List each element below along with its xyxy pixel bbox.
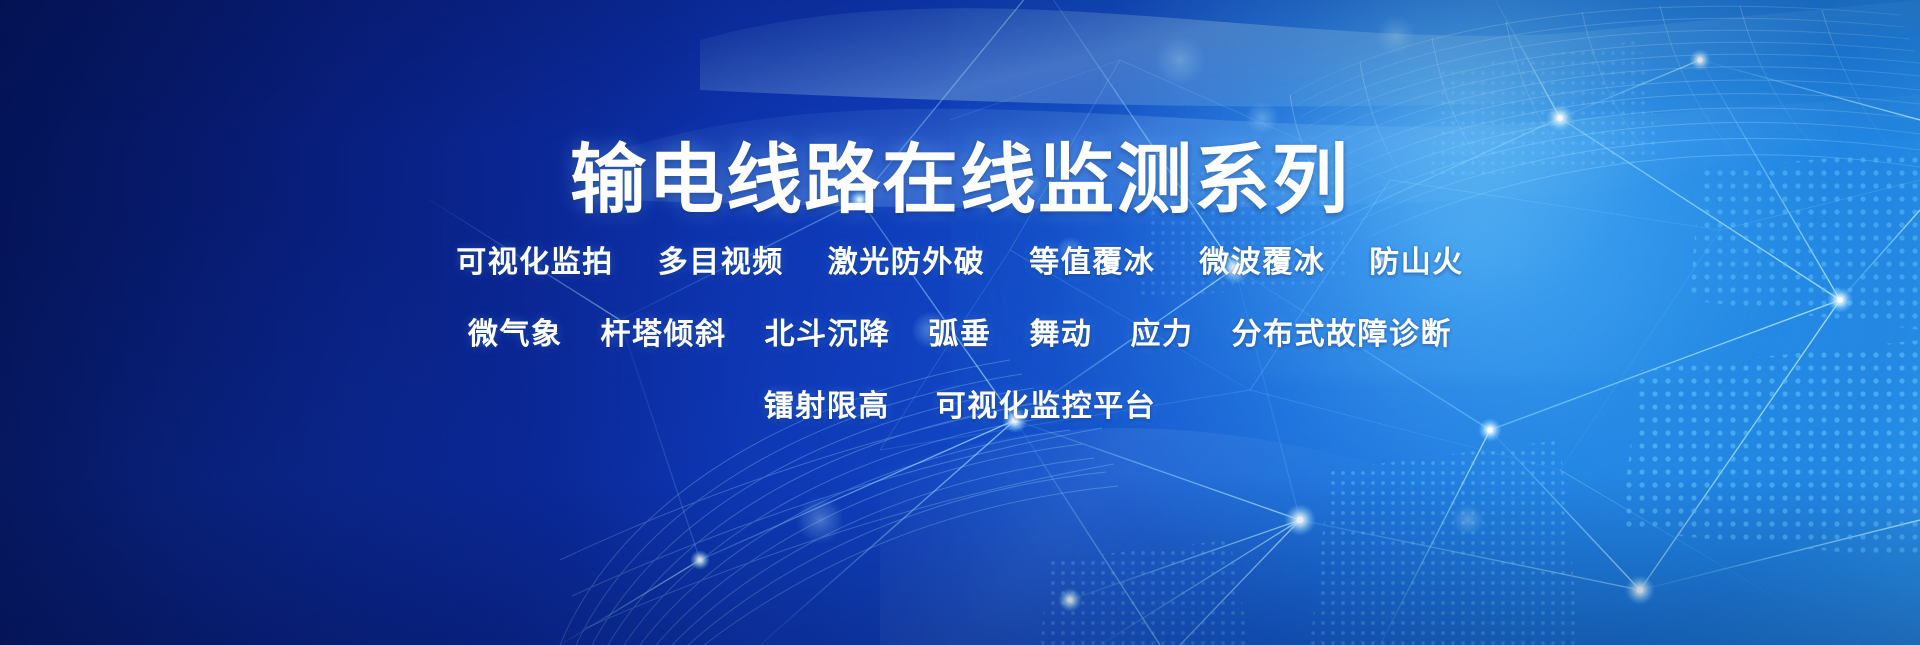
keyword-item[interactable]: 镭射限高 — [764, 392, 890, 422]
keyword-item[interactable]: 分布式故障诊断 — [1232, 320, 1453, 350]
keyword-item[interactable]: 多目视频 — [658, 248, 784, 278]
keyword-item[interactable]: 杆塔倾斜 — [601, 320, 727, 350]
keyword-item[interactable]: 微波覆冰 — [1199, 248, 1325, 278]
keyword-row-2: 微气象 杆塔倾斜 北斗沉降 弧垂 舞动 应力 分布式故障诊断 — [0, 320, 1920, 350]
keyword-item[interactable]: 等值覆冰 — [1029, 248, 1155, 278]
keyword-item[interactable]: 应力 — [1131, 320, 1194, 350]
keyword-row-1: 可视化监拍 多目视频 激光防外破 等值覆冰 微波覆冰 防山火 — [0, 248, 1920, 278]
keyword-item[interactable]: 北斗沉降 — [765, 320, 891, 350]
keyword-item[interactable]: 微气象 — [468, 320, 563, 350]
keyword-item[interactable]: 弧垂 — [929, 320, 992, 350]
keyword-item[interactable]: 舞动 — [1030, 320, 1093, 350]
page-title: 输电线路在线监测系列 — [0, 143, 1920, 219]
hero-banner: 输电线路在线监测系列 可视化监拍 多目视频 激光防外破 等值覆冰 微波覆冰 防山… — [0, 0, 1920, 645]
banner-content: 输电线路在线监测系列 可视化监拍 多目视频 激光防外破 等值覆冰 微波覆冰 防山… — [0, 0, 1920, 645]
keyword-item[interactable]: 激光防外破 — [828, 248, 986, 278]
keyword-item[interactable]: 防山火 — [1369, 248, 1464, 278]
keyword-item[interactable]: 可视化监拍 — [456, 248, 614, 278]
keyword-row-3: 镭射限高 可视化监控平台 — [0, 392, 1920, 422]
keyword-item[interactable]: 可视化监控平台 — [936, 392, 1157, 422]
keyword-list: 可视化监拍 多目视频 激光防外破 等值覆冰 微波覆冰 防山火 微气象 杆塔倾斜 … — [0, 248, 1920, 422]
